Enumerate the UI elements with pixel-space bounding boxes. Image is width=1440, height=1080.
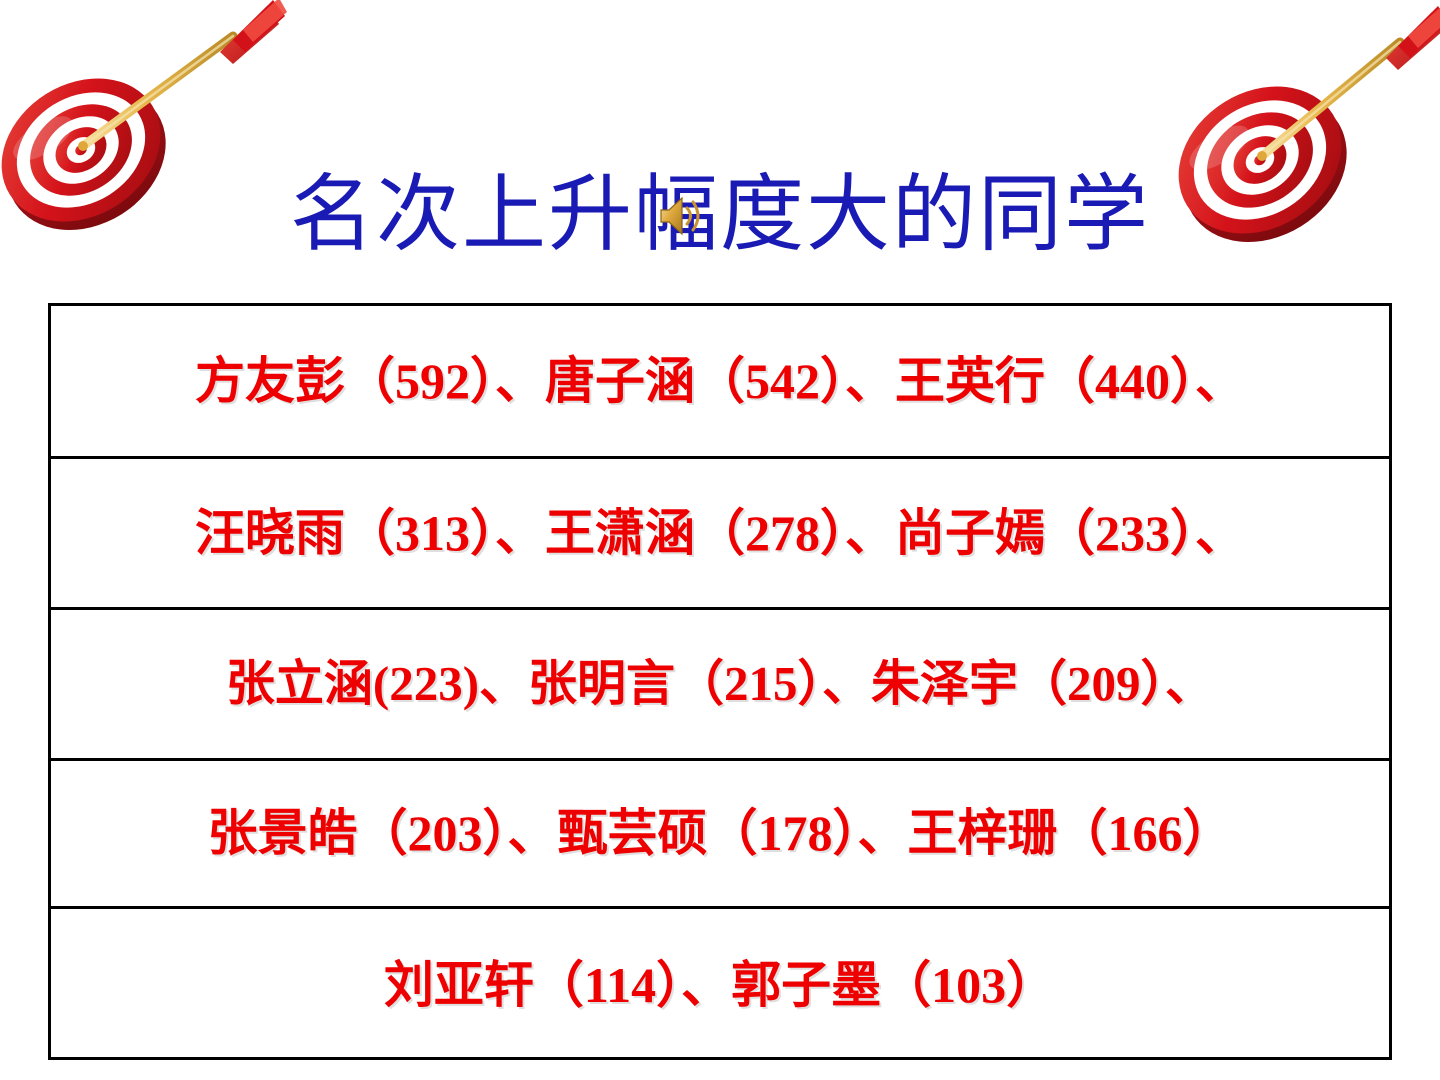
row-text: 张景皓（203）、甄芸硕（178）、王梓珊（166） <box>208 804 1233 862</box>
table-cell: 方友彭（592）、唐子涵（542）、王英行（440）、 <box>51 306 1389 457</box>
table-row: 张景皓（203）、甄芸硕（178）、王梓珊（166） <box>51 759 1389 907</box>
table-cell: 张立涵(223)、张明言（215）、朱泽宇（209）、 <box>51 608 1389 759</box>
table-cell: 刘亚轩（114）、郭子墨（103） <box>51 907 1389 1062</box>
speaker-icon[interactable] <box>655 192 707 240</box>
row-text: 汪晓雨（313）、王潇涵（278）、尚子嫣（233）、 <box>195 504 1245 562</box>
row-text: 张立涵(223)、张明言（215）、朱泽宇（209）、 <box>226 655 1214 713</box>
table-row: 张立涵(223)、张明言（215）、朱泽宇（209）、 <box>51 608 1389 759</box>
slide-title: 名次上升幅度大的同学 <box>0 168 1440 264</box>
table-row: 刘亚轩（114）、郭子墨（103） <box>51 907 1389 1062</box>
table-row: 汪晓雨（313）、王潇涵（278）、尚子嫣（233）、 <box>51 457 1389 608</box>
table-cell: 张景皓（203）、甄芸硕（178）、王梓珊（166） <box>51 759 1389 907</box>
table-cell: 汪晓雨（313）、王潇涵（278）、尚子嫣（233）、 <box>51 457 1389 608</box>
row-text: 刘亚轩（114）、郭子墨（103） <box>384 956 1056 1014</box>
table-row: 方友彭（592）、唐子涵（542）、王英行（440）、 <box>51 306 1389 457</box>
student-names-table: 方友彭（592）、唐子涵（542）、王英行（440）、 汪晓雨（313）、王潇涵… <box>48 303 1392 1060</box>
row-text: 方友彭（592）、唐子涵（542）、王英行（440）、 <box>195 352 1245 410</box>
